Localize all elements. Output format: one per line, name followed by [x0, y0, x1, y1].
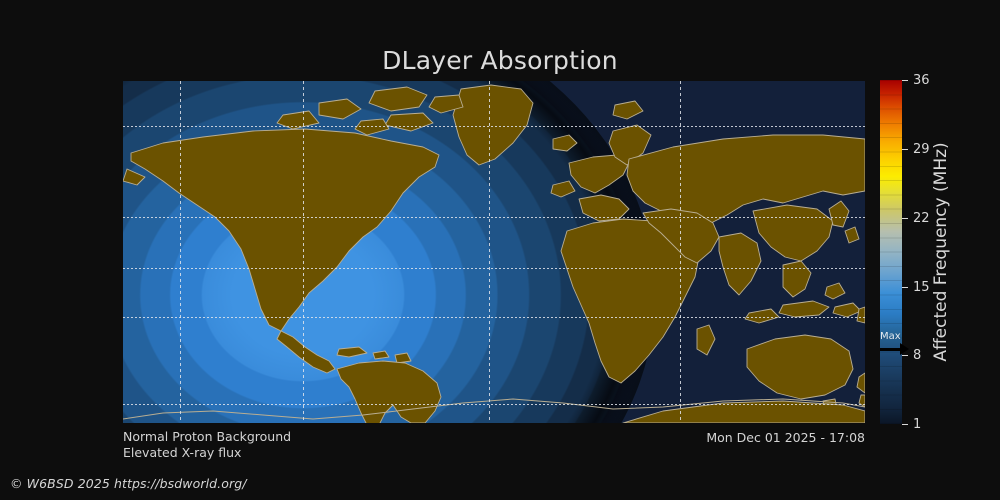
- status-xray-flux: Elevated X-ray flux: [123, 445, 291, 461]
- tick-dash-icon: [902, 218, 908, 219]
- tick-dash-icon: [902, 424, 908, 425]
- page-title: DLayer Absorption: [0, 48, 1000, 73]
- tick-dash-icon: [902, 149, 908, 150]
- colorbar[interactable]: Max 1 8 15 22 29: [880, 80, 902, 424]
- status-proton-background: Normal Proton Background: [123, 429, 291, 445]
- timestamp: Mon Dec 01 2025 - 17:08: [706, 430, 865, 446]
- colorbar-bands: [880, 80, 902, 424]
- tick-dash-icon: [902, 287, 908, 288]
- colorbar-axis-label: Affected Frequency (MHz): [930, 80, 952, 424]
- status-notes: Normal Proton Background Elevated X-ray …: [123, 429, 291, 461]
- map-canvas: [123, 81, 865, 423]
- tick-dash-icon: [902, 80, 908, 81]
- tick-dash-icon: [902, 355, 908, 356]
- screenshot-root: DLayer Absorption: [0, 0, 1000, 500]
- world-map[interactable]: [123, 81, 865, 423]
- credit-line[interactable]: © W6BSD 2025 https://bsdworld.org/: [10, 476, 247, 491]
